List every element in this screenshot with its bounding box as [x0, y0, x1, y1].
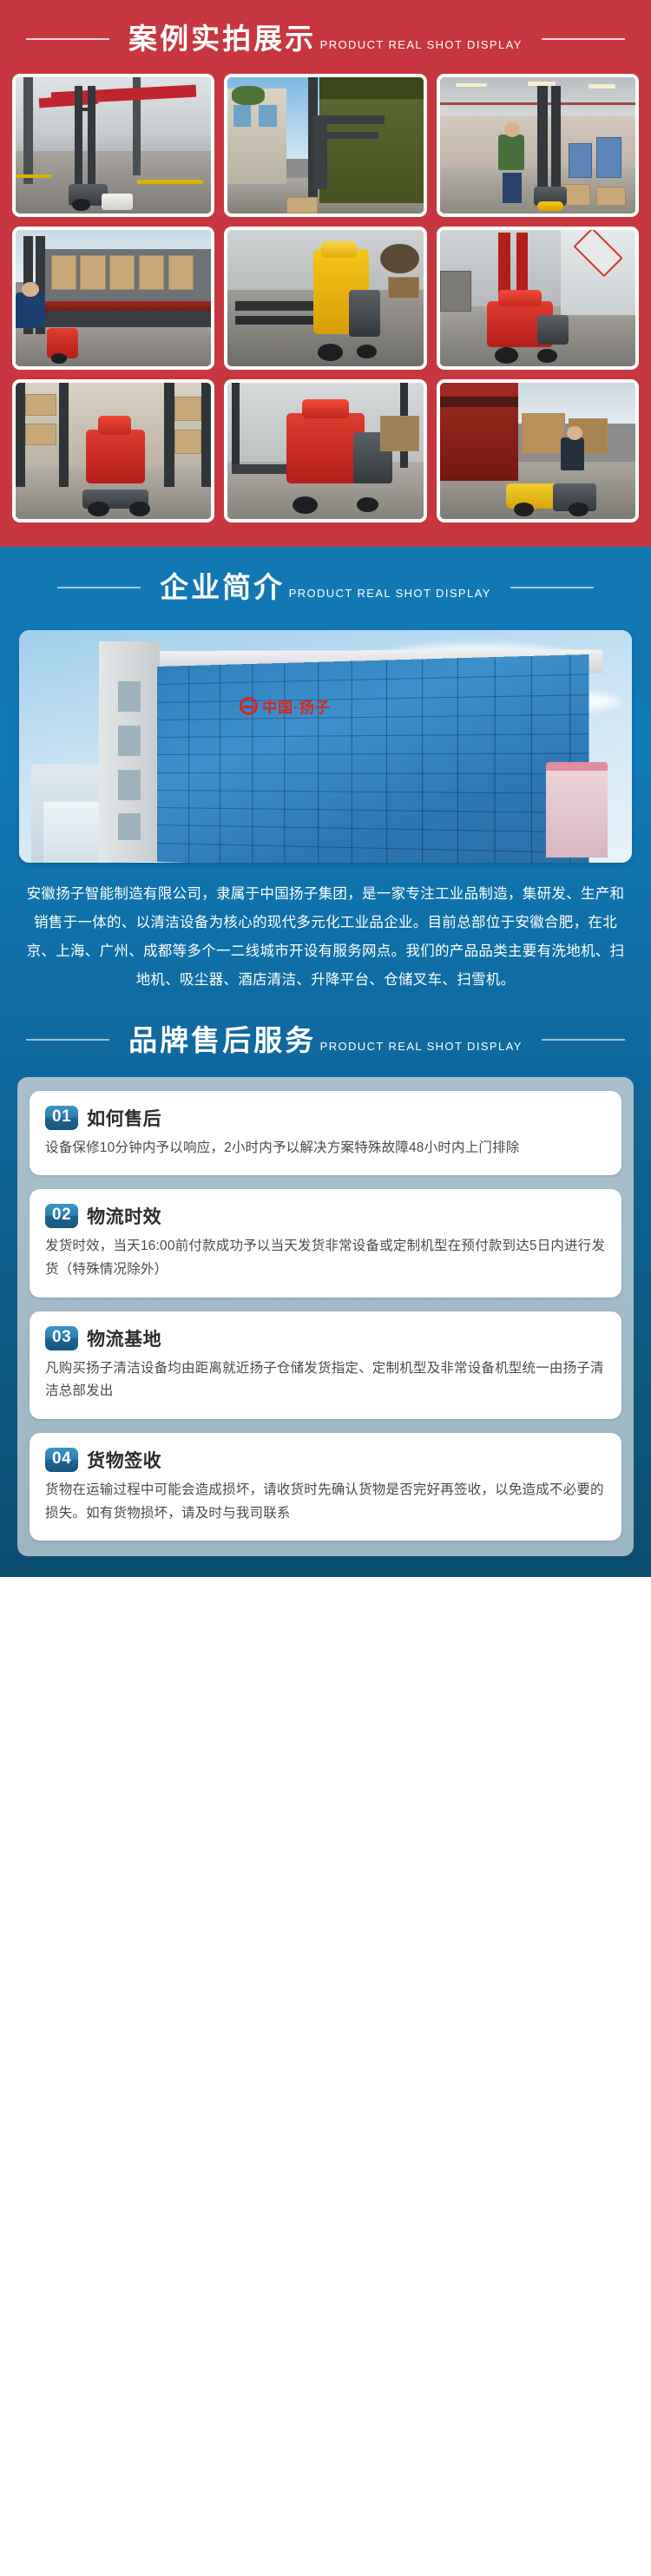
page-bottom-spacer: [0, 1556, 651, 1577]
company-description: 安徽扬子智能制造有限公司，隶属于中国扬子集团，是一家专注工业品制造，集研发、生产…: [0, 863, 651, 1017]
service-card-body: 设备保修10分钟内予以响应，2小时内予以解决方案特殊故障48小时内上门排除: [45, 1137, 606, 1160]
case-section-subtitle: PRODUCT REAL SHOT DISPLAY: [320, 38, 523, 51]
photo-stacker-red-indoor[interactable]: [437, 227, 639, 370]
photo-stacker-warehouse-worker[interactable]: [437, 74, 639, 217]
photo-stacker-yellow-pallet[interactable]: [224, 227, 426, 370]
company-and-service-section: 企业简介 PRODUCT REAL SHOT DISPLAY: [0, 547, 651, 1577]
service-card-title: 如何售后: [87, 1105, 161, 1131]
company-building-photo: 中国·扬子: [19, 630, 632, 863]
header-divider-left: [26, 38, 109, 40]
case-photo-grid: [0, 69, 651, 522]
case-showcase-section: 案例实拍展示 PRODUCT REAL SHOT DISPLAY: [0, 0, 651, 547]
service-card-body: 凡购买扬子清洁设备均由距离就近扬子仓储发货指定、定制机型及非常设备机型统一由扬子…: [45, 1357, 606, 1403]
service-card-01[interactable]: 01 如何售后 设备保修10分钟内予以响应，2小时内予以解决方案特殊故障48小时…: [30, 1091, 621, 1176]
photo-stacker-red-pallettruck[interactable]: [224, 379, 426, 522]
service-card-number: 03: [45, 1326, 78, 1350]
service-card-title: 物流时效: [87, 1203, 161, 1229]
profile-section-title: 企业简介: [160, 571, 285, 603]
service-card-body: 发货时效，当天16:00前付款成功予以当天发货非常设备或定制机型在预付款到达5日…: [45, 1235, 606, 1281]
photo-stacker-factory-mast[interactable]: [12, 74, 214, 217]
service-section-title: 品牌售后服务: [128, 1024, 316, 1056]
service-card-number: 04: [45, 1448, 78, 1472]
header-divider-right: [542, 38, 625, 40]
photo-stacker-truck-unload[interactable]: [437, 379, 639, 522]
service-divider-right: [542, 1039, 625, 1041]
service-section-subtitle: PRODUCT REAL SHOT DISPLAY: [320, 1040, 523, 1053]
profile-section-header: 企业简介 PRODUCT REAL SHOT DISPLAY: [0, 564, 651, 617]
profile-divider-left: [57, 587, 141, 588]
profile-divider-right: [510, 587, 594, 588]
photo-stacker-truck-loading[interactable]: [12, 227, 214, 370]
yangzi-logo-icon: [240, 697, 258, 715]
service-card-number: 02: [45, 1204, 78, 1228]
service-section-header: 品牌售后服务 PRODUCT REAL SHOT DISPLAY: [0, 1017, 651, 1070]
service-cards-panel: 01 如何售后 设备保修10分钟内予以响应，2小时内予以解决方案特殊故障48小时…: [17, 1077, 634, 1557]
service-card-04[interactable]: 04 货物签收 货物在运输过程中可能会造成损坏，请收货时先确认货物是否完好再签收…: [30, 1433, 621, 1541]
case-section-title: 案例实拍展示: [128, 23, 316, 55]
building-brand-logo: 中国·扬子: [240, 695, 331, 717]
service-card-02[interactable]: 02 物流时效 发货时效，当天16:00前付款成功予以当天发货非常设备或定制机型…: [30, 1189, 621, 1297]
service-divider-left: [26, 1039, 109, 1041]
photo-stacker-red-warehouse[interactable]: [12, 379, 214, 522]
case-section-header: 案例实拍展示 PRODUCT REAL SHOT DISPLAY: [0, 16, 651, 69]
photo-stacker-outdoor-tent[interactable]: [224, 74, 426, 217]
service-card-body: 货物在运输过程中可能会造成损坏，请收货时先确认货物是否完好再签收，以免造成不必要…: [45, 1479, 606, 1525]
building-logo-text: 中国·扬子: [262, 695, 331, 717]
service-card-number: 01: [45, 1106, 78, 1130]
service-card-title: 物流基地: [87, 1325, 161, 1351]
service-card-03[interactable]: 03 物流基地 凡购买扬子清洁设备均由距离就近扬子仓储发货指定、定制机型及非常设…: [30, 1311, 621, 1419]
building-glass-facade: [157, 654, 589, 862]
profile-section-subtitle: PRODUCT REAL SHOT DISPLAY: [289, 587, 491, 600]
background-building-right: [546, 769, 608, 858]
service-card-title: 货物签收: [87, 1447, 161, 1473]
